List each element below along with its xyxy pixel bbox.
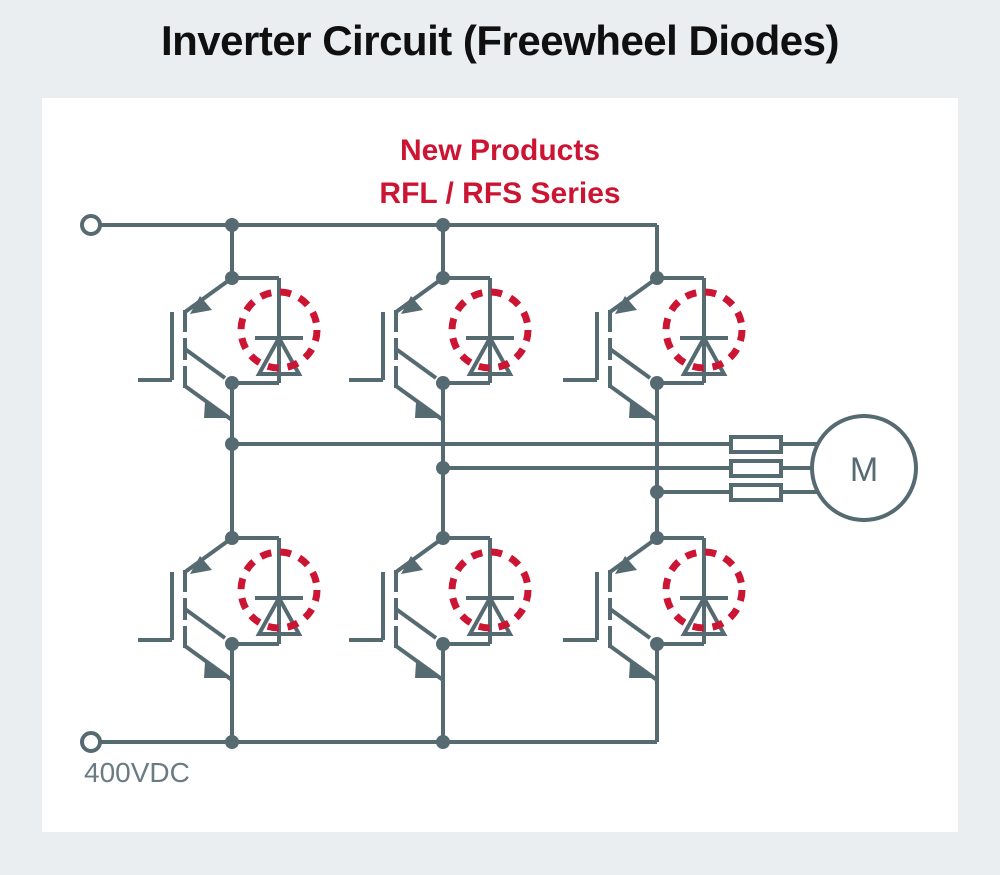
igbt-b-high[interactable]: [349, 278, 443, 420]
junction-dot: [225, 735, 239, 749]
junction-dot: [225, 271, 239, 285]
igbt-b-low[interactable]: [349, 538, 443, 680]
page-title: Inverter Circuit (Freewheel Diodes): [0, 20, 1000, 62]
dc-positive-terminal[interactable]: [82, 216, 100, 234]
junction-dot: [650, 271, 664, 285]
junction-dot: [650, 485, 664, 499]
junction-dot: [225, 376, 239, 390]
junction-dot: [650, 531, 664, 545]
junction-dot: [225, 218, 239, 232]
igbt-c-high[interactable]: [563, 278, 657, 420]
output-coil-c[interactable]: [731, 485, 781, 500]
igbt-a-low[interactable]: [138, 538, 232, 680]
junction-dot: [225, 437, 239, 451]
junction-dot: [436, 637, 450, 651]
junction-dot: [436, 531, 450, 545]
junction-dot: [650, 376, 664, 390]
diagram-root: Inverter Circuit (Freewheel Diodes): [0, 0, 1000, 875]
junction-dot: [650, 637, 664, 651]
output-coil-a[interactable]: [731, 437, 781, 452]
junction-dot: [436, 218, 450, 232]
igbt-a-high[interactable]: [138, 278, 232, 420]
diagram-panel: New Products RFL / RFS Series 400VDC: [42, 98, 958, 832]
motor-label: M: [850, 451, 878, 489]
junction-dot: [225, 637, 239, 651]
leg-b: [349, 225, 528, 742]
junction-dot: [436, 461, 450, 475]
dc-positive-rail: [98, 225, 657, 278]
dc-negative-rail: [98, 690, 657, 742]
annotation-line-2: RFL / RFS Series: [379, 177, 620, 210]
junction-dot: [436, 376, 450, 390]
circuit-schematic: New Products RFL / RFS Series 400VDC: [42, 98, 958, 832]
output-coil-b[interactable]: [731, 461, 781, 476]
junction-dot: [436, 735, 450, 749]
supply-voltage-label: 400VDC: [84, 757, 190, 788]
leg-c: [563, 278, 742, 742]
leg-a: [138, 225, 317, 742]
igbt-c-low[interactable]: [563, 538, 657, 680]
dc-negative-terminal[interactable]: [82, 733, 100, 751]
junction-dot: [436, 271, 450, 285]
annotation-line-1: New Products: [400, 134, 600, 167]
junction-dot: [225, 531, 239, 545]
